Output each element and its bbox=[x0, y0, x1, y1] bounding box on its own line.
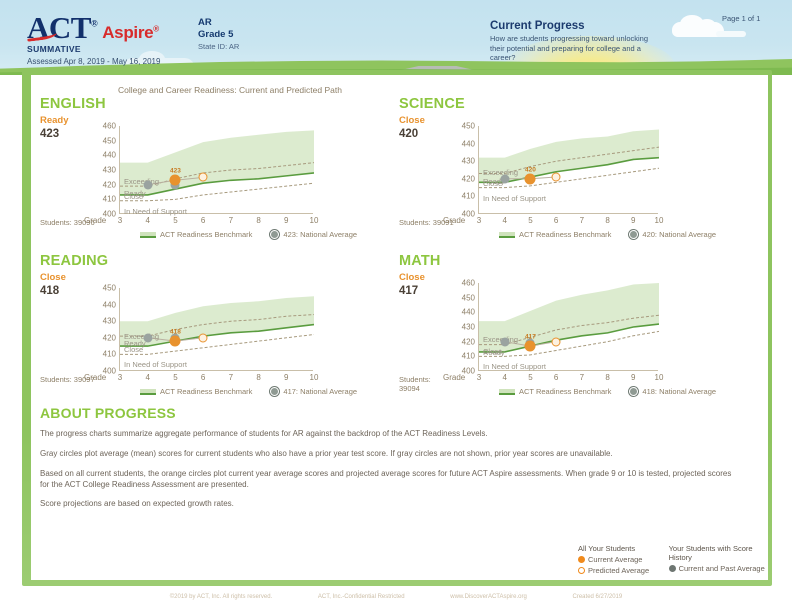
entity-info: AR Grade 5 State ID: AR bbox=[198, 17, 239, 53]
chart-legend: ACT Readiness Benchmark420: National Ave… bbox=[499, 230, 716, 239]
data-point-past-average bbox=[143, 180, 152, 189]
chart-subject-title: READING bbox=[40, 253, 108, 269]
chart-plot-area-reading: 400410420430440450345678910GradeExceedin… bbox=[119, 288, 313, 371]
x-axis-tick-label: 8 bbox=[256, 216, 260, 225]
x-axis-tick-label: 6 bbox=[201, 216, 205, 225]
gray-filled-circle-icon bbox=[669, 565, 676, 572]
benchmark-swatch-icon bbox=[499, 389, 515, 395]
y-axis-tick-label: 450 bbox=[462, 293, 475, 302]
x-axis-title: Grade bbox=[84, 373, 106, 382]
x-axis-tick-label: 7 bbox=[229, 373, 233, 382]
x-axis-tick-label: 8 bbox=[605, 373, 609, 382]
average-score-value: 423 bbox=[40, 128, 106, 140]
report-type-label: SUMMATIVE bbox=[27, 44, 81, 54]
chart-legend: ACT Readiness Benchmark417: National Ave… bbox=[140, 387, 357, 396]
page-header: ACT®Aspire® SUMMATIVE Assessed Apr 8, 20… bbox=[0, 0, 792, 75]
benchmark-swatch-icon bbox=[499, 232, 515, 238]
national-average-circle-icon bbox=[629, 230, 638, 239]
legend-national-label: 418: National Average bbox=[642, 387, 716, 396]
x-axis-tick-label: 6 bbox=[201, 373, 205, 382]
y-axis-tick-label: 440 bbox=[103, 151, 116, 160]
x-axis-tick-label: 10 bbox=[310, 373, 319, 382]
legend-benchmark-label: ACT Readiness Benchmark bbox=[160, 387, 252, 396]
about-paragraph-1: The progress charts summarize aggregate … bbox=[40, 428, 740, 439]
x-axis-tick-label: 3 bbox=[477, 216, 481, 225]
x-axis-tick-label: 4 bbox=[145, 373, 149, 382]
about-paragraph-4: Score projections are based on expected … bbox=[40, 498, 740, 509]
legend-national-label: 417: National Average bbox=[283, 387, 357, 396]
page-footer: ©2019 by ACT, Inc. All rights reserved. … bbox=[0, 594, 792, 600]
average-score-value: 418 bbox=[40, 285, 108, 297]
footer-created: Created 6/27/2019 bbox=[573, 594, 623, 600]
readiness-level-label: Close bbox=[40, 272, 108, 283]
chart-plot-area-science: 400410420430440450345678910GradeExceedin… bbox=[478, 126, 658, 214]
y-axis-tick-label: 450 bbox=[103, 284, 116, 293]
chart-panel-english: ENGLISHReady423Students: 39096 bbox=[40, 96, 106, 140]
footer-url: www.DiscoverACTAspire.org bbox=[450, 594, 527, 600]
chart-subject-title: ENGLISH bbox=[40, 96, 106, 112]
x-axis-title: Grade bbox=[84, 216, 106, 225]
chart-subject-title: MATH bbox=[399, 253, 441, 269]
x-axis-tick-label: 9 bbox=[631, 373, 635, 382]
org-name: AR bbox=[198, 17, 239, 29]
act-wordmark: ACT® bbox=[27, 12, 97, 43]
chart-subject-title: SCIENCE bbox=[399, 96, 465, 112]
act-aspire-logo: ACT®Aspire® bbox=[27, 12, 159, 43]
x-axis-tick-label: 7 bbox=[580, 216, 584, 225]
x-axis-tick-label: 8 bbox=[256, 373, 260, 382]
chart-plot-area-english: 400410420430440450460345678910GradeExcee… bbox=[119, 126, 313, 214]
legend-predicted-average: Predicted Average bbox=[578, 566, 655, 575]
legend-current-past-average: Current and Past Average bbox=[669, 564, 766, 573]
chart-panel-math: MATHClose417Students: 39094 bbox=[399, 253, 441, 297]
band-label-in-need-of-support: In Need of Support bbox=[124, 207, 187, 216]
x-axis-tick-label: 8 bbox=[605, 216, 609, 225]
national-average-circle-icon bbox=[270, 387, 279, 396]
band-label-in-need-of-support: In Need of Support bbox=[483, 362, 546, 371]
national-average-circle-icon bbox=[270, 230, 279, 239]
chart-series-svg bbox=[479, 283, 659, 371]
x-axis-tick-label: 6 bbox=[554, 373, 558, 382]
about-title: ABOUT PROGRESS bbox=[40, 405, 176, 421]
section-title: College and Career Readiness: Current an… bbox=[118, 85, 342, 95]
footer-copyright: ©2019 by ACT, Inc. All rights reserved. bbox=[170, 594, 272, 600]
data-point-past-average bbox=[143, 333, 152, 342]
y-axis-tick-label: 410 bbox=[462, 352, 475, 361]
band-label-close: Close bbox=[124, 192, 143, 201]
y-axis-tick-label: 450 bbox=[462, 122, 475, 131]
x-axis-tick-label: 6 bbox=[554, 216, 558, 225]
average-score-value: 417 bbox=[399, 285, 441, 297]
band-label-exceeding: Exceeding bbox=[124, 177, 159, 186]
about-paragraph-2: Gray circles plot average (mean) scores … bbox=[40, 448, 740, 459]
benchmark-swatch-icon bbox=[140, 232, 156, 238]
data-point-past-average bbox=[500, 337, 509, 346]
x-axis-tick-label: 10 bbox=[655, 373, 664, 382]
data-point-current-average bbox=[525, 341, 536, 352]
y-axis-tick-label: 420 bbox=[103, 180, 116, 189]
act-trademark: ® bbox=[91, 19, 97, 29]
data-point-predicted-average bbox=[552, 173, 561, 182]
report-subtitle: How are students progressing toward unlo… bbox=[490, 34, 650, 63]
y-axis-tick-label: 450 bbox=[103, 136, 116, 145]
readiness-level-label: Ready bbox=[40, 115, 106, 126]
y-axis-tick-label: 410 bbox=[103, 195, 116, 204]
about-paragraph-3: Based on all current students, the orang… bbox=[40, 468, 740, 490]
national-average-circle-icon bbox=[629, 387, 638, 396]
data-point-predicted-average bbox=[552, 337, 561, 346]
y-axis-tick-label: 440 bbox=[462, 308, 475, 317]
legend-current-average-label: Current Average bbox=[588, 555, 642, 564]
footer-confidential: ACT, Inc.-Confidential Restricted bbox=[318, 594, 405, 600]
x-axis-tick-label: 3 bbox=[477, 373, 481, 382]
chart-panel-science: SCIENCEClose420Students: 39091 bbox=[399, 96, 465, 140]
y-axis-tick-label: 410 bbox=[462, 192, 475, 201]
x-axis-tick-label: 5 bbox=[173, 216, 177, 225]
legend-benchmark-label: ACT Readiness Benchmark bbox=[519, 230, 611, 239]
x-axis-tick-label: 9 bbox=[631, 216, 635, 225]
chart-panel-reading: READINGClose418Students: 39097 bbox=[40, 253, 108, 297]
legend-current-average: Current Average bbox=[578, 555, 655, 564]
orange-filled-circle-icon bbox=[578, 556, 585, 563]
y-axis-tick-label: 460 bbox=[103, 122, 116, 131]
assessment-window: Assessed Apr 8, 2019 - May 16, 2019 bbox=[27, 57, 160, 66]
x-axis-tick-label: 5 bbox=[528, 216, 532, 225]
grade-level: Grade 5 bbox=[198, 29, 239, 41]
data-point-value-label: 418 bbox=[170, 329, 181, 336]
legend-national-label: 420: National Average bbox=[642, 230, 716, 239]
chart-legend: ACT Readiness Benchmark418: National Ave… bbox=[499, 387, 716, 396]
data-point-value-label: 423 bbox=[170, 168, 181, 175]
y-axis-tick-label: 440 bbox=[462, 139, 475, 148]
x-axis-tick-label: 10 bbox=[310, 216, 319, 225]
x-axis-title: Grade bbox=[443, 373, 465, 382]
data-point-predicted-average bbox=[199, 173, 208, 182]
x-axis-tick-label: 9 bbox=[284, 216, 288, 225]
y-axis-tick-label: 430 bbox=[103, 166, 116, 175]
data-point-past-average bbox=[500, 174, 509, 183]
legend-current-past-average-label: Current and Past Average bbox=[679, 564, 765, 573]
data-point-value-label: 417 bbox=[525, 334, 536, 341]
average-score-value: 420 bbox=[399, 128, 465, 140]
x-axis-tick-label: 10 bbox=[655, 216, 664, 225]
x-axis-tick-label: 4 bbox=[145, 216, 149, 225]
figure-legend: All Your Students Current Average Predic… bbox=[578, 544, 766, 578]
x-axis-tick-label: 5 bbox=[173, 373, 177, 382]
readiness-level-label: Close bbox=[399, 272, 441, 283]
data-point-current-average bbox=[525, 173, 536, 184]
orange-open-circle-icon bbox=[578, 567, 585, 574]
y-axis-tick-label: 420 bbox=[103, 333, 116, 342]
x-axis-tick-label: 7 bbox=[580, 373, 584, 382]
x-axis-tick-label: 3 bbox=[118, 216, 122, 225]
y-axis-tick-label: 460 bbox=[462, 279, 475, 288]
legend-predicted-average-label: Predicted Average bbox=[588, 566, 649, 575]
legend-col1-header: All Your Students bbox=[578, 544, 655, 553]
aspire-registered: ® bbox=[153, 24, 159, 33]
y-axis-tick-label: 430 bbox=[462, 157, 475, 166]
student-count-label: Students: 39094 bbox=[399, 375, 441, 393]
aspire-wordmark-text: Aspire bbox=[102, 23, 153, 42]
y-axis-tick-label: 430 bbox=[462, 323, 475, 332]
y-axis-tick-label: 430 bbox=[103, 317, 116, 326]
y-axis-tick-label: 440 bbox=[103, 300, 116, 309]
y-axis-tick-label: 410 bbox=[103, 350, 116, 359]
band-label-close: Close bbox=[483, 347, 502, 356]
x-axis-tick-label: 4 bbox=[502, 373, 506, 382]
band-label-in-need-of-support: In Need of Support bbox=[124, 360, 187, 369]
x-axis-tick-label: 3 bbox=[118, 373, 122, 382]
report-page: ACT®Aspire® SUMMATIVE Assessed Apr 8, 20… bbox=[0, 0, 792, 612]
y-axis-tick-label: 420 bbox=[462, 174, 475, 183]
x-axis-tick-label: 5 bbox=[528, 373, 532, 382]
readiness-level-label: Close bbox=[399, 115, 465, 126]
x-axis-title: Grade bbox=[443, 216, 465, 225]
data-point-current-average bbox=[170, 175, 181, 186]
chart-legend: ACT Readiness Benchmark423: National Ave… bbox=[140, 230, 357, 239]
legend-benchmark-label: ACT Readiness Benchmark bbox=[519, 387, 611, 396]
x-axis-tick-label: 4 bbox=[502, 216, 506, 225]
benchmark-swatch-icon bbox=[140, 389, 156, 395]
state-id: State ID: AR bbox=[198, 41, 239, 53]
page-indicator: Page 1 of 1 bbox=[722, 14, 760, 23]
y-axis-tick-label: 420 bbox=[462, 337, 475, 346]
chart-plot-area-math: 400410420430440450460345678910GradeExcee… bbox=[478, 283, 658, 371]
data-point-value-label: 420 bbox=[525, 166, 536, 173]
legend-benchmark-label: ACT Readiness Benchmark bbox=[160, 230, 252, 239]
x-axis-tick-label: 9 bbox=[284, 373, 288, 382]
band-label-close: Close bbox=[483, 179, 502, 188]
chart-series-svg bbox=[120, 288, 314, 371]
x-axis-tick-label: 7 bbox=[229, 216, 233, 225]
band-label-in-need-of-support: In Need of Support bbox=[483, 194, 546, 203]
legend-national-label: 423: National Average bbox=[283, 230, 357, 239]
band-label-close: Close bbox=[124, 345, 143, 354]
data-point-predicted-average bbox=[199, 333, 208, 342]
aspire-wordmark: Aspire® bbox=[102, 23, 159, 42]
legend-col2-header: Your Students with Score History bbox=[669, 544, 766, 562]
data-point-current-average bbox=[170, 336, 181, 347]
chart-series-svg bbox=[120, 126, 314, 214]
cloud-tail-icon bbox=[716, 31, 746, 37]
report-title: Current Progress bbox=[490, 20, 585, 32]
